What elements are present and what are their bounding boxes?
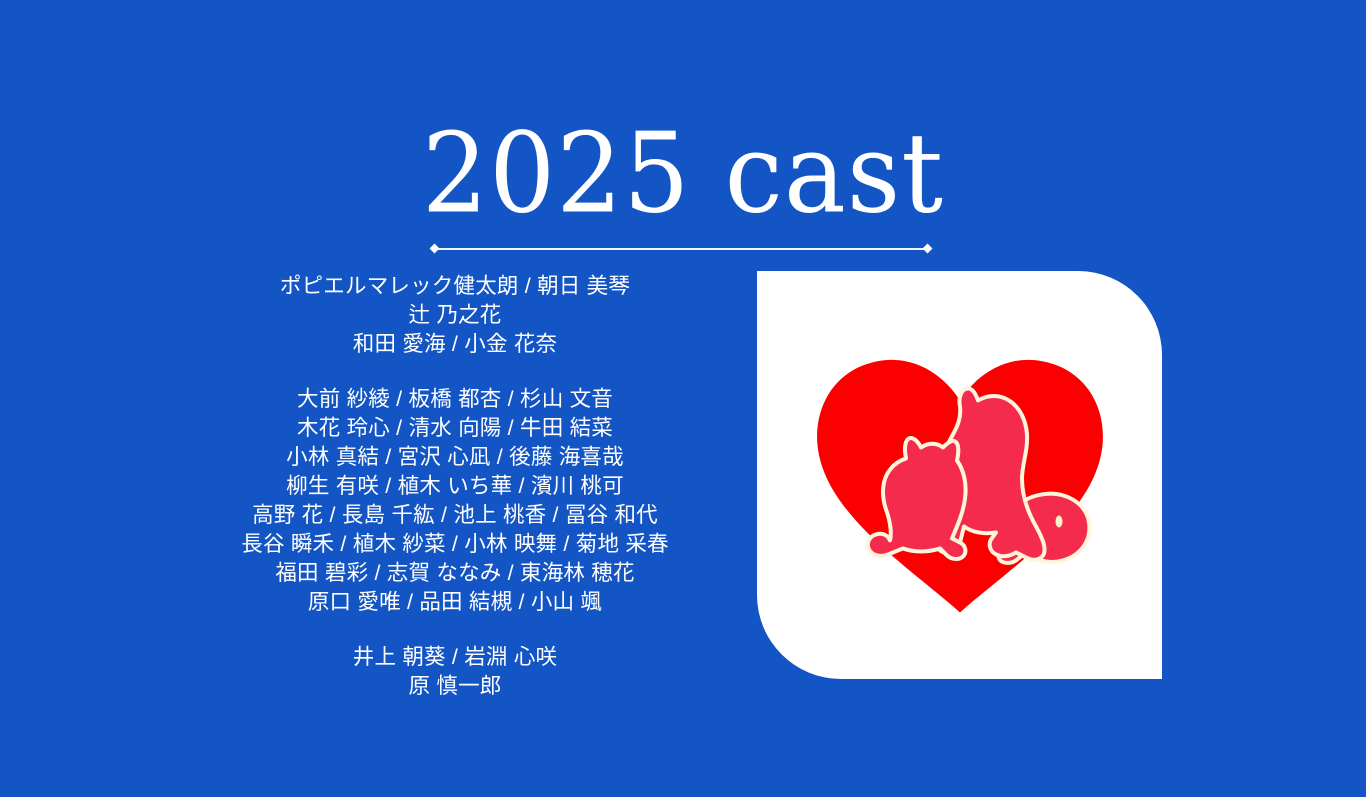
cast-group-3: 井上 朝葵 / 岩淵 心咲 原 慎一郎 <box>40 643 870 701</box>
cast-line: 小林 真結 / 宮沢 心凪 / 後藤 海喜哉 <box>40 443 870 472</box>
title-block: 2025 cast <box>0 118 1366 222</box>
cast-line: 和田 愛海 / 小金 花奈 <box>40 330 870 359</box>
cast-line: 大前 紗綾 / 板橋 都杏 / 杉山 文音 <box>40 385 870 414</box>
divider-line <box>435 248 927 250</box>
cast-list: ポピエルマレック健太朗 / 朝日 美琴 辻 乃之花 和田 愛海 / 小金 花奈 … <box>40 272 870 701</box>
diamond-cap-right-icon <box>923 244 933 254</box>
cast-line: 井上 朝葵 / 岩淵 心咲 <box>40 643 870 672</box>
cast-line: 木花 玲心 / 清水 向陽 / 牛田 結菜 <box>40 414 870 443</box>
cast-group-1: ポピエルマレック健太朗 / 朝日 美琴 辻 乃之花 和田 愛海 / 小金 花奈 <box>40 272 870 359</box>
page-title: 2025 cast <box>0 118 1366 228</box>
cast-line: 原 慎一郎 <box>40 672 870 701</box>
title-divider <box>425 243 937 255</box>
cast-line: 福田 碧彩 / 志賀 ななみ / 東海林 穂花 <box>40 559 870 588</box>
cast-line: ポピエルマレック健太朗 / 朝日 美琴 <box>40 272 870 301</box>
cast-line: 長谷 瞬禾 / 植木 紗菜 / 小林 映舞 / 菊地 采春 <box>40 530 870 559</box>
rabbit-eye <box>1055 515 1062 527</box>
cast-line: 辻 乃之花 <box>40 301 870 330</box>
poster-canvas: 2025 cast ポピエルマレック健太朗 / 朝日 美琴 辻 乃之花 和田 愛… <box>0 0 1366 797</box>
logo-card <box>757 271 1162 679</box>
cast-line: 高野 花 / 長島 千紘 / 池上 桃香 / 冨谷 和代 <box>40 501 870 530</box>
cast-line: 柳生 有咲 / 植木 いち華 / 濱川 桃可 <box>40 472 870 501</box>
cast-line: 原口 愛唯 / 品田 結槻 / 小山 颯 <box>40 588 870 617</box>
cast-group-2: 大前 紗綾 / 板橋 都杏 / 杉山 文音 木花 玲心 / 清水 向陽 / 牛田… <box>40 385 870 617</box>
heart-with-pets-logo-icon <box>810 344 1110 616</box>
